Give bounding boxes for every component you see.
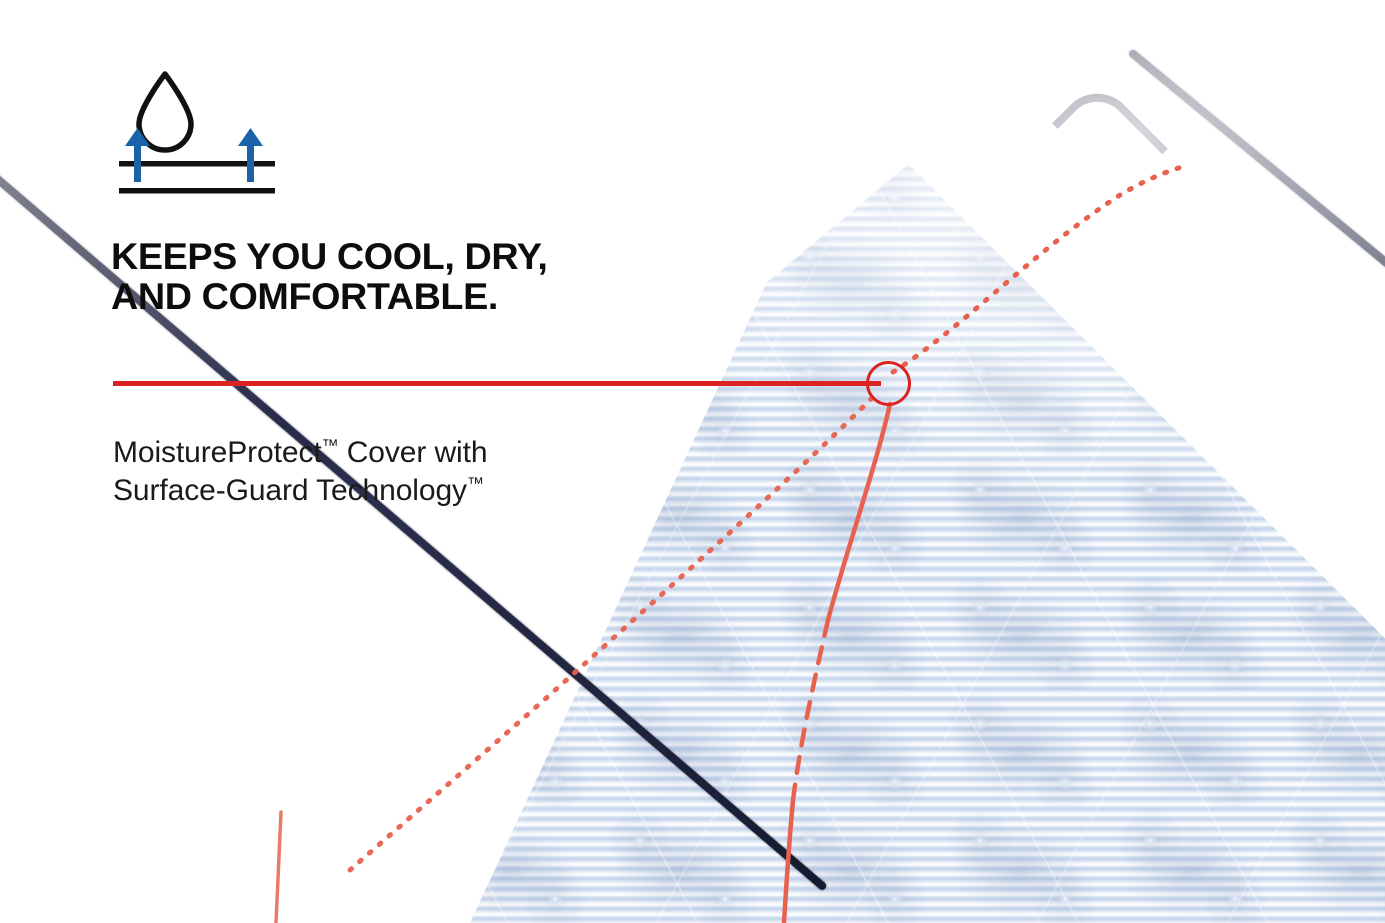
product-name-surfaceguard: Surface-Guard Technology (113, 474, 467, 507)
headline-line-1: KEEPS YOU COOL, DRY, (111, 237, 764, 277)
product-name-moistureprotect: MoistureProtect (113, 436, 322, 469)
callout-highlight-circle (866, 361, 911, 406)
moisture-wicking-icon (113, 62, 288, 202)
description-line-2: Surface-Guard Technology™ (113, 472, 673, 510)
water-droplet-icon (139, 74, 191, 150)
description-line-1: MoistureProtect™ Cover with (113, 434, 673, 472)
callout-leader-line (113, 381, 881, 386)
description-line-1-rest: Cover with (338, 436, 487, 469)
upward-arrow-icon-right (238, 128, 263, 182)
page-title: KEEPS YOU COOL, DRY, AND COMFORTABLE. (111, 237, 764, 317)
surface-line-bottom (119, 188, 275, 194)
mattress-corner-piping (1052, 78, 1168, 194)
headline-line-2: AND COMFORTABLE. (111, 277, 764, 317)
trademark-symbol-2: ™ (467, 474, 484, 493)
feature-callout-screenshot: KEEPS YOU COOL, DRY, AND COMFORTABLE. Mo… (0, 0, 1385, 923)
trademark-symbol-1: ™ (322, 436, 339, 455)
feature-description: MoistureProtect™ Cover with Surface-Guar… (113, 434, 673, 510)
upward-arrow-icon-left (125, 128, 150, 182)
